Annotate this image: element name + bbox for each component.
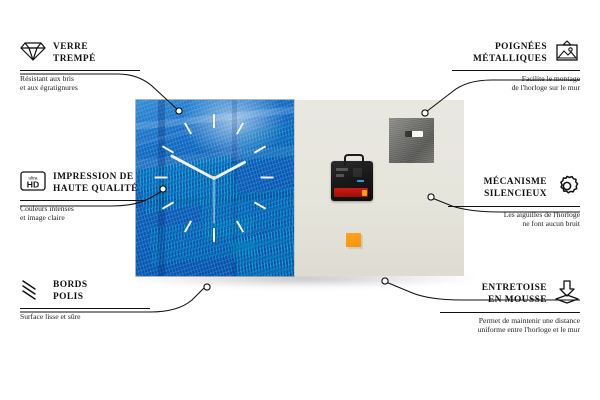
battery bbox=[334, 188, 368, 197]
battery-terminal bbox=[362, 190, 367, 196]
quartz-mechanism-box bbox=[331, 161, 373, 201]
clock-back-panel bbox=[294, 100, 464, 276]
feature-divider bbox=[452, 70, 580, 71]
clock-hub bbox=[212, 176, 216, 180]
feature-title: IMPRESSION DE HAUTE QUALITÉ bbox=[53, 172, 138, 194]
hour-tick bbox=[155, 177, 168, 179]
hanger-slot bbox=[405, 131, 423, 137]
feature-subtitle: Résistant aux bris et aux égratignures bbox=[20, 74, 140, 93]
feature-subtitle: Facilite le montage de l'horloge sur le … bbox=[452, 74, 580, 93]
feature-verre-trempe: VERRE TREMPÉ Résistant aux bris et aux é… bbox=[20, 40, 140, 93]
feature-poignees-metalliques: POIGNÉES MÉTALLIQUES Facilite le montage… bbox=[452, 40, 580, 93]
foam-spacer-arrow-icon bbox=[554, 280, 580, 309]
feature-divider bbox=[440, 312, 580, 313]
hour-tick bbox=[254, 201, 266, 209]
wall-hanger-frame-icon bbox=[554, 40, 580, 67]
hour-tick bbox=[254, 145, 266, 153]
feature-divider bbox=[448, 206, 580, 207]
feature-title: ENTRETOISE EN MOUSSE bbox=[482, 283, 547, 305]
polished-edges-icon bbox=[20, 278, 46, 305]
hour-hand bbox=[213, 160, 246, 180]
feature-mecanisme-silencieux: MÉCANISME SILENCIEUX Les aiguilles de l'… bbox=[448, 174, 580, 229]
foam-spacer bbox=[346, 233, 361, 247]
infographic-canvas: VERRE TREMPÉ Résistant aux bris et aux é… bbox=[0, 0, 600, 400]
hour-tick bbox=[213, 114, 215, 128]
diamond-icon bbox=[20, 40, 46, 67]
feature-title: POIGNÉES MÉTALLIQUES bbox=[473, 42, 547, 64]
hour-tick bbox=[184, 122, 192, 134]
feature-title: VERRE TREMPÉ bbox=[53, 42, 96, 64]
svg-text:HD: HD bbox=[27, 179, 39, 189]
feature-entretoise-en-mousse: ENTRETOISE EN MOUSSE Permet de maintenir… bbox=[440, 280, 580, 335]
feature-bords-polis: BORDS POLIS Surface lisse et sûre bbox=[20, 278, 150, 321]
second-hand bbox=[214, 179, 215, 224]
feature-subtitle: Couleurs intenses et image claire bbox=[20, 204, 146, 223]
feature-title: BORDS POLIS bbox=[53, 280, 88, 302]
hour-tick bbox=[236, 122, 244, 134]
gear-icon bbox=[554, 174, 580, 203]
feature-subtitle: Les aiguilles de l'horloge ne font aucun… bbox=[448, 210, 580, 229]
feature-divider bbox=[20, 70, 140, 71]
feature-divider bbox=[20, 308, 150, 309]
ultra-hd-badge-icon: ultra HD bbox=[20, 170, 46, 197]
hour-tick bbox=[162, 201, 174, 209]
hour-tick bbox=[236, 220, 244, 232]
feature-title: MÉCANISME SILENCIEUX bbox=[484, 177, 547, 199]
clock-dial bbox=[136, 100, 294, 276]
feature-divider bbox=[20, 200, 146, 201]
feature-subtitle: Surface lisse et sûre bbox=[20, 312, 150, 321]
hour-tick bbox=[162, 145, 174, 153]
metal-hanger-plate bbox=[389, 118, 434, 163]
hour-tick bbox=[261, 177, 274, 179]
feature-subtitle: Permet de maintenir une distance uniform… bbox=[440, 316, 580, 335]
product-image bbox=[136, 100, 464, 280]
mechanism-hanging-loop bbox=[344, 154, 364, 165]
hour-tick bbox=[213, 228, 215, 242]
hour-tick bbox=[184, 220, 192, 232]
minute-hand bbox=[170, 154, 215, 180]
feature-impression-haute-qualite: ultra HD IMPRESSION DE HAUTE QUALITÉ Cou… bbox=[20, 170, 146, 223]
